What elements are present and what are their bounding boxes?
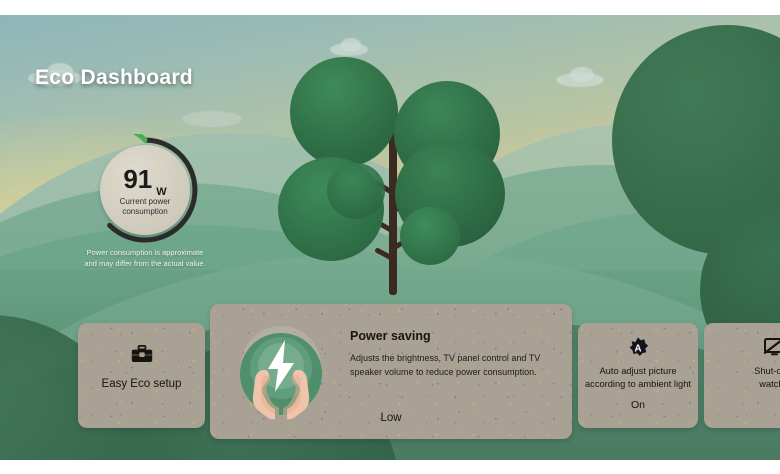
gauge-readout: 91 W Current power consumption	[89, 134, 201, 246]
toolbox-icon	[78, 345, 205, 368]
shut-off-label-line1: Shut-off w	[704, 365, 780, 378]
gauge-label-line1: Current power	[120, 197, 171, 207]
power-saving-description-line1: Adjusts the brightness, TV panel control…	[350, 352, 555, 366]
power-saving-description: Adjusts the brightness, TV panel control…	[350, 352, 555, 379]
power-saving-description-line2: speaker volume to reduce power consumpti…	[350, 366, 555, 380]
disclaimer-line1: Power consumption is approximate	[55, 248, 235, 259]
auto-brightness-icon: A	[578, 337, 698, 364]
power-disclaimer: Power consumption is approximate and may…	[55, 248, 235, 270]
page-title: Eco Dashboard	[35, 66, 193, 90]
auto-adjust-picture-card[interactable]: A Auto adjust picture according to ambie…	[578, 323, 698, 428]
power-saving-state[interactable]: Low	[210, 412, 572, 424]
power-saving-title: Power saving	[350, 329, 431, 343]
tree-illustration	[270, 35, 540, 325]
gauge-label: Current power consumption	[120, 197, 171, 217]
gauge-value: 91	[123, 166, 152, 192]
easy-eco-setup-card[interactable]: Easy Eco setup	[78, 323, 205, 428]
eco-dashboard-screen: Eco Dashboard 91 W Current power consump…	[0, 15, 780, 460]
easy-eco-setup-label: Easy Eco setup	[78, 378, 205, 390]
auto-adjust-label-line1: Auto adjust picture	[584, 365, 692, 378]
screen-off-icon	[704, 337, 780, 362]
shut-off-label: Shut-off w watchin	[704, 365, 780, 390]
tree-foliage-6	[327, 163, 385, 219]
tree-foliage-5	[400, 207, 460, 265]
cloud-7	[182, 111, 242, 127]
power-saving-card[interactable]: Power saving Adjusts the brightness, TV …	[210, 304, 572, 439]
disclaimer-line2: and may differ from the actual value.	[55, 259, 235, 270]
auto-adjust-label-line2: according to ambient light	[584, 378, 692, 391]
current-power-consumption-gauge: 91 W Current power consumption	[89, 134, 201, 246]
gauge-label-line2: consumption	[120, 207, 171, 217]
shut-off-card[interactable]: Shut-off w watchin	[704, 323, 780, 428]
auto-adjust-picture-label: Auto adjust picture according to ambient…	[584, 365, 692, 390]
tree-foliage-1	[290, 57, 398, 167]
auto-adjust-state[interactable]: On	[578, 399, 698, 411]
cloud-6	[570, 67, 594, 82]
svg-text:A: A	[634, 344, 641, 355]
hands-holding-lightning-illustration	[232, 322, 330, 420]
shut-off-label-line2: watchin	[704, 378, 780, 391]
